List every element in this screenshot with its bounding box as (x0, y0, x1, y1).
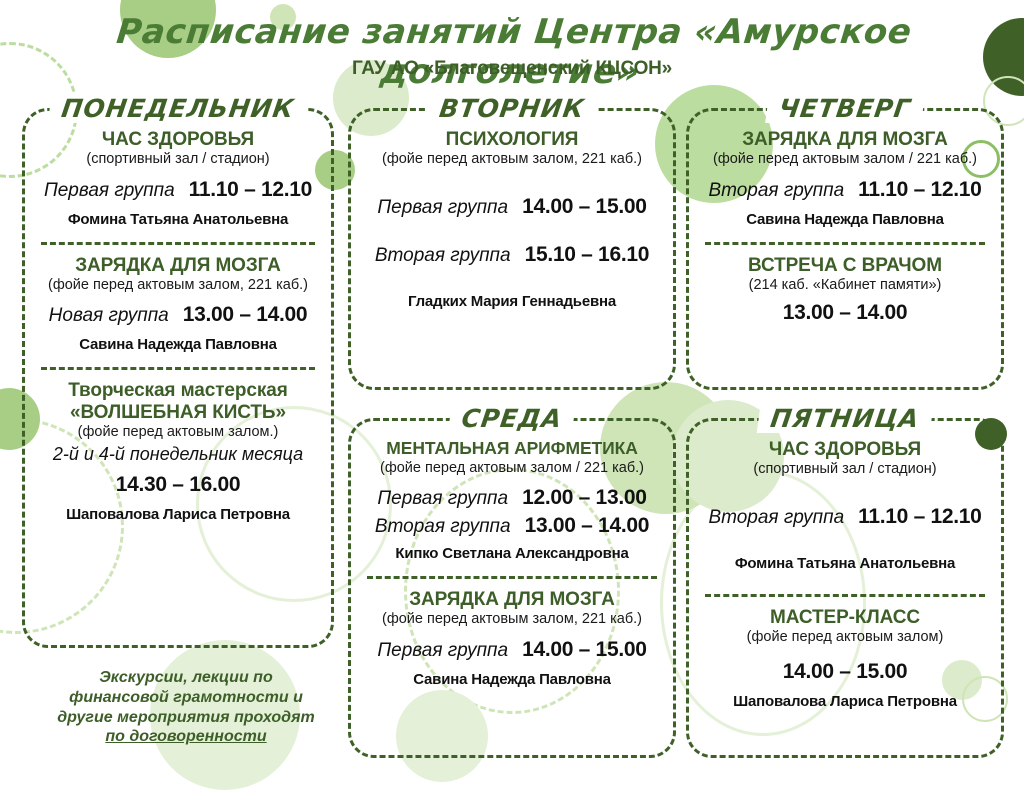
slot-group-label: Первая группа (377, 197, 508, 219)
slot-time-value: 11.10 – 12.10 (858, 505, 981, 529)
activity-title: ЗАРЯДКА ДЛЯ МОЗГА (365, 589, 659, 610)
activity-title: ВСТРЕЧА С ВРАЧОМ (703, 255, 987, 276)
slot-group-label: Вторая группа (375, 245, 511, 267)
activity-separator (367, 576, 657, 579)
slot-time-value: 15.10 – 16.10 (525, 243, 650, 267)
day-card-tuesday: ВТОРНИК ПСИХОЛОГИЯ (фойе перед актовым з… (348, 108, 676, 390)
activity-place: (214 каб. «Кабинет памяти») (703, 277, 987, 294)
activity-place: (фойе перед актовым залом / 221 каб.) (703, 151, 987, 168)
activity-place: (фойе перед актовым залом, 221 каб.) (39, 277, 317, 294)
activity-separator (41, 242, 315, 245)
note-line-4: по договоренности (105, 728, 266, 745)
activity-monday-2: ЗАРЯДКА ДЛЯ МОЗГА (фойе перед актовым за… (35, 253, 321, 358)
day-label-monday: ПОНЕДЕЛЬНИК (48, 94, 309, 123)
activity-teacher: Фомина Татьяна Анатольевна (39, 211, 317, 228)
day-label-thursday: ЧЕТВЕРГ (765, 94, 925, 123)
day-label-friday: ПЯТНИЦА (757, 404, 934, 433)
activity-slot-2: Вторая группа 13.00 – 14.00 (365, 514, 659, 538)
activity-place: (спортивный зал / стадион) (703, 461, 987, 478)
activity-title: ЧАС ЗДОРОВЬЯ (39, 129, 317, 150)
activity-slot: Новая группа 13.00 – 14.00 (39, 303, 317, 327)
activity-slot-1: Первая группа 12.00 – 13.00 (365, 486, 659, 510)
slot-group-label: Вторая группа (708, 180, 844, 202)
page-title: Расписание занятий Центра «Амурское долг… (0, 12, 1024, 92)
slot-group-label: Новая группа (49, 305, 169, 327)
activity-title: ЧАС ЗДОРОВЬЯ (703, 439, 987, 460)
activity-slot: Первая группа 11.10 – 12.10 (39, 178, 317, 202)
activity-slot-2: Вторая группа 15.10 – 16.10 (365, 243, 659, 267)
activity-teacher: Савина Надежда Павловна (365, 671, 659, 688)
activity-teacher: Савина Надежда Павловна (39, 336, 317, 353)
activity-place: (фойе перед актовым залом / 221 каб.) (365, 460, 659, 477)
activity-teacher: Савина Надежда Павловна (703, 211, 987, 228)
note-line-2: финансовой грамотности и (30, 688, 342, 708)
activity-teacher: Гладких Мария Геннадьевна (365, 293, 659, 310)
activity-title: ЗАРЯДКА ДЛЯ МОЗГА (703, 129, 987, 150)
activity-place: (фойе перед актовым залом.) (39, 424, 317, 441)
activity-thursday-1: ЗАРЯДКА ДЛЯ МОЗГА (фойе перед актовым за… (699, 127, 991, 232)
activity-time: 14.30 – 16.00 (39, 473, 317, 497)
note-line-1: Экскурсии, лекции по (30, 668, 342, 688)
activity-frequency: 2-й и 4-й понедельник месяца (39, 444, 317, 466)
slot-time-value: 11.10 – 12.10 (189, 178, 312, 202)
slot-time-value: 13.00 – 14.00 (525, 514, 650, 538)
activity-title: ЗАРЯДКА ДЛЯ МОЗГА (39, 255, 317, 276)
activity-thursday-2: ВСТРЕЧА С ВРАЧОМ (214 каб. «Кабинет памя… (699, 253, 991, 330)
day-card-wednesday: СРЕДА МЕНТАЛЬНАЯ АРИФМЕТИКА (фойе перед … (348, 418, 676, 758)
activity-separator (41, 367, 315, 370)
slot-time-value: 14.00 – 15.00 (522, 638, 647, 662)
activity-place: (спортивный зал / стадион) (39, 151, 317, 168)
slot-group-label: Вторая группа (708, 507, 844, 529)
slot-time-value: 12.00 – 13.00 (522, 486, 647, 510)
activity-separator (705, 242, 985, 245)
day-label-tuesday: ВТОРНИК (425, 94, 598, 123)
slot-group-label: Первая группа (377, 640, 508, 662)
slot-time-value: 14.00 – 15.00 (522, 195, 647, 219)
activity-title-line2: «ВОЛШЕБНАЯ КИСТЬ» (39, 402, 317, 423)
slot-time-value: 13.00 – 14.00 (183, 303, 308, 327)
activity-friday-1: ЧАС ЗДОРОВЬЯ (спортивный зал / стадион) … (699, 437, 991, 576)
activity-time: 14.00 – 15.00 (703, 660, 987, 684)
activity-slot: Первая группа 14.00 – 15.00 (365, 638, 659, 662)
monday-footer-note: Экскурсии, лекции по финансовой грамотно… (22, 668, 350, 747)
activity-tuesday-1: ПСИХОЛОГИЯ (фойе перед актовым залом, 22… (361, 127, 663, 314)
slot-group-label: Первая группа (44, 180, 175, 202)
activity-slot: Вторая группа 11.10 – 12.10 (703, 178, 987, 202)
slot-group-label: Первая группа (377, 488, 508, 510)
slot-group-label: Вторая группа (375, 516, 511, 538)
activity-place: (фойе перед актовым залом, 221 каб.) (365, 611, 659, 628)
day-label-wednesday: СРЕДА (448, 404, 576, 433)
activity-monday-1: ЧАС ЗДОРОВЬЯ (спортивный зал / стадион) … (35, 127, 321, 232)
activity-teacher: Шаповалова Лариса Петровна (703, 693, 987, 710)
activity-teacher: Шаповалова Лариса Петровна (39, 506, 317, 523)
activity-monday-3: Творческая мастерская «ВОЛШЕБНАЯ КИСТЬ» … (35, 378, 321, 527)
note-line-3: другие мероприятия проходят (30, 708, 342, 728)
day-card-thursday: ЧЕТВЕРГ ЗАРЯДКА ДЛЯ МОЗГА (фойе перед ак… (686, 108, 1004, 390)
activity-time: 13.00 – 14.00 (703, 301, 987, 325)
activity-place: (фойе перед актовым залом) (703, 629, 987, 646)
slot-time-value: 11.10 – 12.10 (858, 178, 981, 202)
activity-slot: Вторая группа 11.10 – 12.10 (703, 505, 987, 529)
activity-wednesday-1: МЕНТАЛЬНАЯ АРИФМЕТИКА (фойе перед актовы… (361, 437, 663, 566)
activity-separator (705, 594, 985, 597)
activity-title-line1: Творческая мастерская (39, 380, 317, 401)
activity-teacher: Кипко Светлана Александровна (365, 545, 659, 562)
activity-title: МАСТЕР-КЛАСС (703, 607, 987, 628)
activity-slot-1: Первая группа 14.00 – 15.00 (365, 195, 659, 219)
activity-title: МЕНТАЛЬНАЯ АРИФМЕТИКА (365, 439, 659, 459)
day-card-monday: ПОНЕДЕЛЬНИК ЧАС ЗДОРОВЬЯ (спортивный зал… (22, 108, 334, 648)
page-subtitle: ГАУ АО «Благовещенский КЦСОН» (0, 58, 1024, 80)
day-card-friday: ПЯТНИЦА ЧАС ЗДОРОВЬЯ (спортивный зал / с… (686, 418, 1004, 758)
activity-title: ПСИХОЛОГИЯ (365, 129, 659, 150)
activity-friday-2: МАСТЕР-КЛАСС (фойе перед актовым залом) … (699, 605, 991, 715)
activity-wednesday-2: ЗАРЯДКА ДЛЯ МОЗГА (фойе перед актовым за… (361, 587, 663, 692)
activity-teacher: Фомина Татьяна Анатольевна (703, 555, 987, 572)
activity-place: (фойе перед актовым залом, 221 каб.) (365, 151, 659, 168)
